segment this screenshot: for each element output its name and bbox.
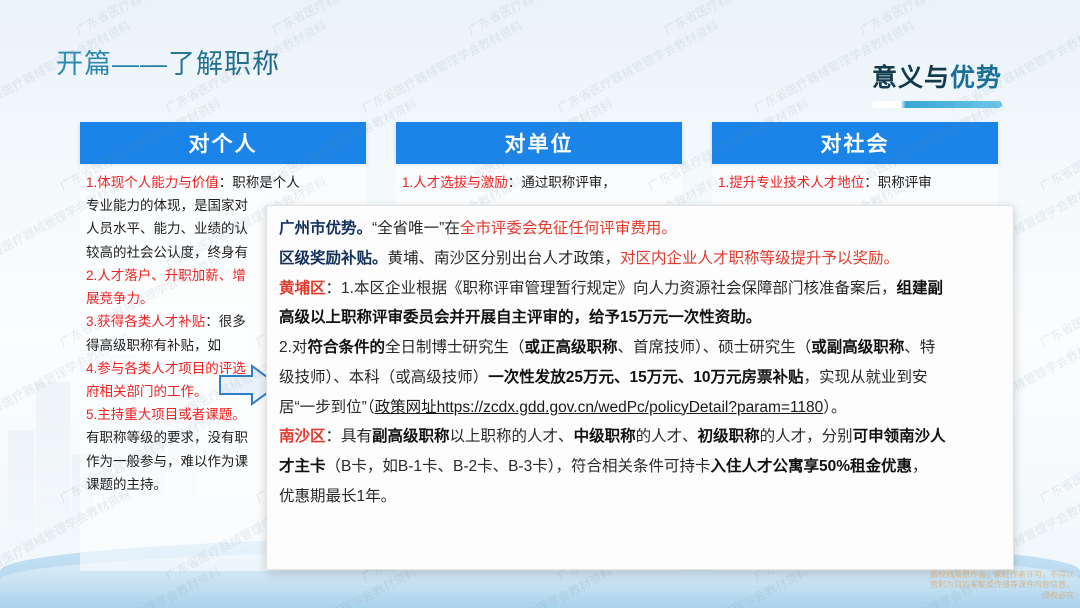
panel-text-span: 黄埔区 xyxy=(279,280,326,297)
column-text-span: ：通过职称评审， xyxy=(508,175,616,190)
panel-line: 南沙区：具有副高级职称以上职称的人才、中级职称的人才、初级职称的人才，分别可申领… xyxy=(279,422,1003,452)
panel-line: 级技师）、本科（或高级技师）一次性发放25万元、15万元、10万元房票补贴，实现… xyxy=(279,363,1003,393)
panel-text-span: 中级职称 xyxy=(574,428,636,445)
section-title-underline xyxy=(872,101,1002,108)
watermark-text: 广东省医疗器械管理学会教材资料 xyxy=(73,0,240,38)
page-title: 开篇——了解职称 xyxy=(56,42,280,81)
panel-line: 黄埔区：1.本区企业根据《职称评审管理暂行规定》向人力资源社会保障部门核准备案后… xyxy=(279,274,1003,304)
column-text-line: 1.体现个人能力与价值：职称是个人 xyxy=(86,171,360,194)
watermark-text: 广东省医疗器械管理学会教材资料 xyxy=(1037,95,1080,195)
panel-text-span: 副高级职称 xyxy=(372,428,450,445)
column-text-span: 府相关部门的工作。 xyxy=(86,384,208,399)
panel-text-span: 高级以上职称评审委员会并开展自主评审的，给予15万元一次性资助。 xyxy=(279,309,761,326)
panel-text-span: 对区内企业人才职称等级提升予以奖励。 xyxy=(620,250,899,267)
panel-text-span: 区级奖励补贴。 xyxy=(279,250,388,267)
policy-url-link[interactable]: 政策网址https://zcdx.gdd.gov.cn/wedPc/policy… xyxy=(375,399,824,416)
panel-text-span: （B卡，如B-1卡、B-2卡、B-3卡），符合相关条件可持卡 xyxy=(326,458,711,475)
column-text-span: ：职称评审 xyxy=(864,175,932,190)
panel-text-span: 的人才，分别 xyxy=(760,428,853,445)
panel-text-span: 级技师）、本科（或高级技师） xyxy=(279,369,488,386)
panel-text-span: 2.对 xyxy=(279,339,307,356)
panel-text-span: 广州市优势。 xyxy=(279,220,372,237)
panel-text-span: 的人才、 xyxy=(636,428,698,445)
panel-text-span: 可申领南沙人 xyxy=(853,428,946,445)
watermark-text: 广东省医疗器械管理学会教材资料 xyxy=(555,17,722,117)
watermark-text: 广东省医疗器械管理学会教材资料 xyxy=(857,0,1024,38)
panel-text-span: 初级职称 xyxy=(698,428,760,445)
panel-text-span: 、首席技师）、硕士研究生（ xyxy=(617,339,811,356)
column-text-span: 1.提升专业技术人才地位 xyxy=(718,175,864,190)
column-text-span: 1.体现个人能力与价值 xyxy=(86,175,219,190)
panel-line: 优惠期最长1年。 xyxy=(279,482,1003,512)
slide-canvas: 开篇——了解职称 意义与优势 对个人1.体现个人能力与价值：职称是个人专业能力的… xyxy=(0,0,1080,608)
section-title-part1: 意义与 xyxy=(872,64,950,92)
panel-text-span: “全省唯一”在 xyxy=(372,220,460,237)
column-header[interactable]: 对个人 xyxy=(80,122,366,164)
panel-text-span: 一次性发放25万元、15万元、10万元房票补贴 xyxy=(488,369,803,386)
panel-text-span: 入住人才公寓享50%租金优惠 xyxy=(710,458,912,475)
watermark-text: 广东省医疗器械管理学会教材资料 xyxy=(0,0,43,38)
panel-text-span: 或副高级职称 xyxy=(811,339,904,356)
panel-text-span: 以上职称的人才、 xyxy=(450,428,574,445)
column-text-line: 1.提升专业技术人才地位：职称评审 xyxy=(718,171,992,194)
panel-text-span: 组建副 xyxy=(896,280,943,297)
column-text-span: 作为一般参与，难以作为课 xyxy=(86,454,248,469)
column-text-span: ：很多 xyxy=(205,314,246,329)
column-text-span: 有职称等级的要求，没有职 xyxy=(86,430,248,445)
column-text-span: ：职称是个人 xyxy=(219,175,300,190)
watermark-text: 广东省医疗器械管理学会教材资料 xyxy=(1037,251,1080,351)
column-text-span: 3.获得各类人才补贴 xyxy=(86,314,205,329)
column-text-span: 得高级职称有补贴，如 xyxy=(86,338,221,353)
column-text-span: 1.人才选拔与激励 xyxy=(402,175,508,190)
panel-text-span: 符合条件的 xyxy=(307,339,385,356)
column-header[interactable]: 对社会 xyxy=(712,122,998,164)
panel-text-span: 黄埔、南沙区分别出台人才政策， xyxy=(388,250,621,267)
column-text-span: 专业能力的体现，是国家对 xyxy=(86,198,248,213)
panel-text-span: 南沙区 xyxy=(279,428,326,445)
panel-text-span: 全市评委会免征任何评审费用。 xyxy=(460,220,677,237)
column-text-span: 展竞争力。 xyxy=(86,291,154,306)
panel-text-span: ）。 xyxy=(823,399,846,416)
column-text-span: 课题的主持。 xyxy=(86,477,167,492)
panel-line: 区级奖励补贴。黄埔、南沙区分别出台人才政策，对区内企业人才职称等级提升予以奖励。 xyxy=(279,244,1003,274)
panel-text-span: ，实现从就业到安 xyxy=(804,369,928,386)
panel-line: 2.对符合条件的全日制博士研究生（或正高级职称、首席技师）、硕士研究生（或副高级… xyxy=(279,333,1003,363)
copyright-notice: 版权归属原作者，未经作者许可，不得以营利为目的采集或传播等课件内容信息，侵权必究 xyxy=(924,570,1074,602)
watermark-text: 广东省医疗器械管理学会教材资料 xyxy=(661,0,828,38)
column-header[interactable]: 对单位 xyxy=(396,122,682,164)
watermark-text: 广东省医疗器械管理学会教材资料 xyxy=(465,0,632,38)
panel-text-span: ， xyxy=(912,458,928,475)
panel-text-span: 居“一步到位”（ xyxy=(279,399,375,416)
panel-text-span: 、特 xyxy=(904,339,935,356)
column-text-line: 1.人才选拔与激励：通过职称评审， xyxy=(402,171,676,194)
section-title-part2: 优势 xyxy=(950,64,1002,92)
panel-text-span: 优惠期最长1年。 xyxy=(279,488,396,505)
watermark-text: 广东省医疗器械管理学会教材资料 xyxy=(1037,407,1080,507)
watermark-text: 广东省医疗器械管理学会教材资料 xyxy=(359,17,526,117)
column-text-span: 5.主持重大项目或者课题。 xyxy=(86,407,246,422)
section-title: 意义与优势 xyxy=(872,58,1002,108)
panel-line: 高级以上职称评审委员会并开展自主评审的，给予15万元一次性资助。 xyxy=(279,303,1003,333)
watermark-text: 广东省医疗器械管理学会教材资料 xyxy=(269,0,436,38)
column-text-span: 人员水平、能力、业绩的认 xyxy=(86,221,248,236)
column-text-span: 较高的社会公认度，终身有 xyxy=(86,245,248,260)
panel-text-span: 或正高级职称 xyxy=(524,339,617,356)
panel-line: 才主卡（B卡，如B-1卡、B-2卡、B-3卡），符合相关条件可持卡入住人才公寓享… xyxy=(279,452,1003,482)
panel-text-span: ：具有 xyxy=(326,428,373,445)
panel-line: 广州市优势。“全省唯一”在全市评委会免征任何评审费用。 xyxy=(279,214,1003,244)
panel-text-span: 全日制博士研究生（ xyxy=(385,339,525,356)
panel-line: 居“一步到位”（政策网址https://zcdx.gdd.gov.cn/wedP… xyxy=(279,393,1003,423)
panel-text-span: 才主卡 xyxy=(279,458,326,475)
column-text-span: 2.人才落户、升职加薪、增 xyxy=(86,268,246,283)
panel-text-span: ：1.本区企业根据《职称评审管理暂行规定》向人力资源社会保障部门核准备案后， xyxy=(326,280,897,297)
detail-panel: 广州市优势。“全省唯一”在全市评委会免征任何评审费用。区级奖励补贴。黄埔、南沙区… xyxy=(266,205,1014,570)
